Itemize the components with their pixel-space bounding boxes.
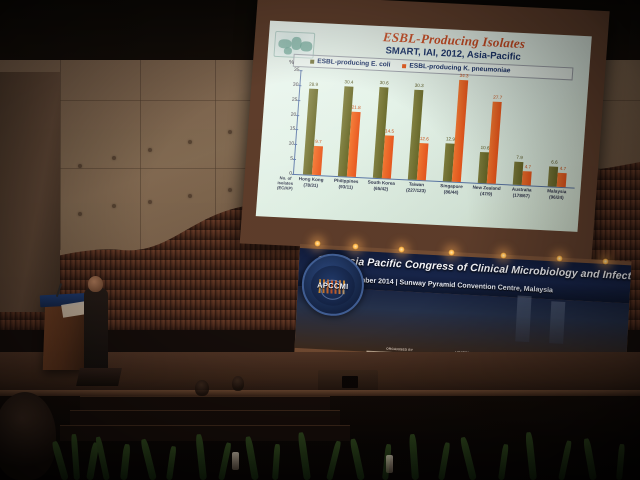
y-tick-20: 20 xyxy=(283,111,296,118)
speaker-head xyxy=(88,276,103,292)
audience-member-head xyxy=(195,380,209,396)
stage-spotlight xyxy=(602,258,609,265)
stage-spotlight xyxy=(448,249,455,256)
bar-group: 6.64.7 xyxy=(540,82,583,187)
x-label-hong-kong: Hong Kong(78/31) xyxy=(293,176,329,189)
bar-kpneumoniae: 34.3 xyxy=(452,80,468,182)
bar-value-label: 12.9 xyxy=(446,136,455,141)
bar-value-label: 10.6 xyxy=(480,145,489,150)
y-axis-unit-label: % xyxy=(289,60,294,66)
bar-kpneumoniae: 12.6 xyxy=(417,143,429,181)
projection-screen: ESBL-Producing Isolates SMART, IAI, 2012… xyxy=(240,0,610,261)
stage-spotlight xyxy=(352,243,359,250)
bar-value-label: 30.6 xyxy=(379,80,388,85)
bar-value-label: 30.4 xyxy=(344,79,353,84)
apccmi-logo-text: APCCMI xyxy=(311,280,355,291)
bar-value-label: 14.5 xyxy=(385,128,394,133)
bar-value-label: 28.9 xyxy=(309,82,318,87)
foreground-plants xyxy=(0,418,640,480)
stage-wedge-monitor xyxy=(76,368,122,386)
legend-item-e-coli: ESBL-producing E. coli xyxy=(310,58,391,69)
x-label-philippines: Philippines(93/11) xyxy=(328,178,364,191)
bar-value-label: 27.7 xyxy=(493,94,502,99)
bar-value-label: 34.3 xyxy=(459,73,468,78)
stage-spotlight xyxy=(500,252,507,259)
bar-value-label: 4.7 xyxy=(524,164,531,169)
y-tick-10: 10 xyxy=(281,141,294,148)
speaker-person xyxy=(84,288,108,370)
monitor-vent xyxy=(342,376,358,388)
presentation-slide: ESBL-Producing Isolates SMART, IAI, 2012… xyxy=(256,21,592,232)
bar-value-label: 30.3 xyxy=(415,83,424,88)
audience-member-head xyxy=(232,376,244,391)
y-tick-15: 15 xyxy=(282,126,295,133)
water-bottle xyxy=(386,455,393,473)
isolate-count-note: No. of isolates (EC/KP) xyxy=(276,175,295,191)
bar-value-label: 21.8 xyxy=(351,105,360,110)
bar-kpneumoniae: 9.7 xyxy=(311,146,322,175)
apccmi-logo-inner: APCCMI xyxy=(310,265,356,307)
bar-value-label: 6.6 xyxy=(551,160,558,165)
water-bottle xyxy=(232,452,239,470)
bar-kpneumoniae: 4.7 xyxy=(522,171,532,185)
auditorium-scene: ESBL-Producing Isolates SMART, IAI, 2012… xyxy=(0,0,640,480)
x-label-south-korea: South Korea(65/42) xyxy=(363,179,399,192)
x-label-singapore: Singapore(86/44) xyxy=(433,183,469,196)
legend-swatch-k-pneumoniae xyxy=(402,64,406,68)
y-tick-25: 25 xyxy=(284,96,297,103)
x-label-taiwan: Taiwan(227/123) xyxy=(398,181,434,194)
y-tick-5: 5 xyxy=(280,155,293,162)
x-label-australia: Australia(178/67) xyxy=(503,186,539,199)
bar-value-label: 7.9 xyxy=(516,154,523,159)
legend-label-e-coli: ESBL-producing E. coli xyxy=(317,58,391,69)
bar-kpneumoniae: 4.7 xyxy=(557,173,567,187)
x-label-new-zealand: New Zealand(47/9) xyxy=(468,184,504,197)
screen-surface: ESBL-Producing Isolates SMART, IAI, 2012… xyxy=(256,21,592,232)
legend-swatch-e-coli xyxy=(310,59,314,63)
petronas-towers-graphic xyxy=(497,289,590,346)
bar-value-label: 9.7 xyxy=(315,139,322,144)
side-wall xyxy=(0,72,60,312)
bar-value-label: 12.6 xyxy=(420,136,429,141)
bar-kpneumoniae: 14.5 xyxy=(382,135,394,178)
stage-spotlight xyxy=(314,240,321,247)
bar-kpneumoniae: 27.7 xyxy=(487,101,502,184)
y-tick-35: 35 xyxy=(286,66,299,73)
bar-value-label: 4.7 xyxy=(560,166,567,171)
x-label-malaysia: Malaysia(96/24) xyxy=(539,188,575,201)
stage-spotlight xyxy=(556,255,563,262)
y-tick-30: 30 xyxy=(285,81,298,88)
bar-chart-plot: % 05101520253035 28.99.730.421.830.614.5… xyxy=(278,69,582,201)
chart-bars: 28.99.730.421.830.614.530.312.612.934.31… xyxy=(294,70,582,187)
legend-item-k-pneumoniae: ESBL-producing K. pneumoniae xyxy=(402,62,511,74)
stage-spotlight xyxy=(398,246,405,253)
